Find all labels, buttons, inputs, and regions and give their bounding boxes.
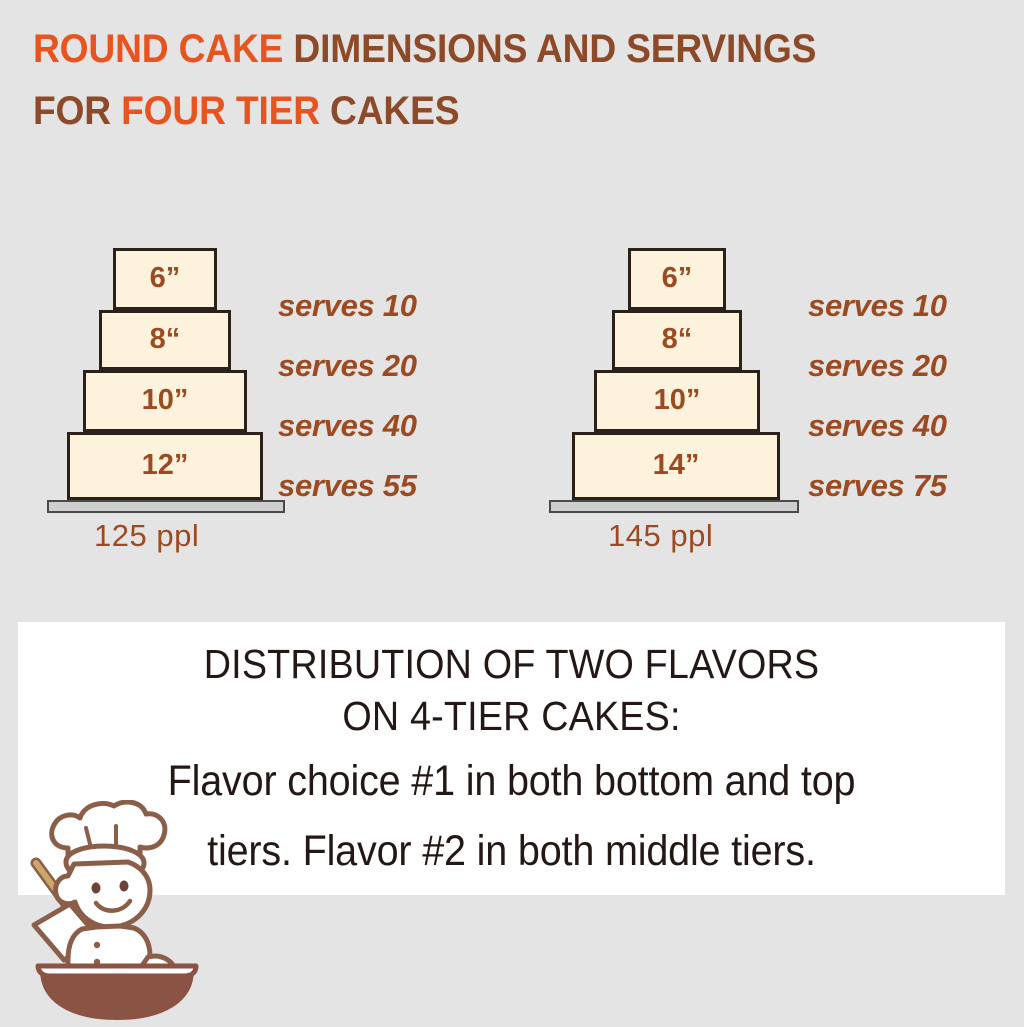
- cake-tier-size-label: 10”: [142, 386, 189, 415]
- cake-diagram-left: 6” 8“ 10” 12” 125 ppl: [40, 248, 290, 528]
- serves-row-1-right: serves 10: [808, 288, 947, 324]
- title-line-2: FOR FOUR TIER CAKES: [33, 80, 926, 142]
- serves-row-1-left: serves 10: [278, 288, 417, 324]
- cake-tier-1-left: 6”: [113, 248, 217, 310]
- serves-row-3-right: serves 40: [808, 408, 947, 444]
- serves-row-2-right: serves 20: [808, 348, 947, 384]
- title-accent-round-cake: ROUND CAKE: [33, 27, 283, 71]
- cake-tier-3-left: 10”: [83, 370, 247, 432]
- cake-tier-4-right: 14”: [572, 432, 780, 500]
- cake-tier-size-label: 10”: [654, 386, 701, 415]
- cake-total-servings-right: 145 ppl: [608, 518, 713, 554]
- cake-tier-size-label: 8“: [662, 325, 693, 354]
- cake-tier-size-label: 8“: [150, 325, 181, 354]
- cake-tier-size-label: 6”: [150, 264, 181, 293]
- chef-icon: [24, 800, 214, 1022]
- cake-tier-2-right: 8“: [612, 310, 742, 370]
- cake-plate-left: [47, 500, 285, 513]
- cake-tier-2-left: 8“: [99, 310, 231, 370]
- serves-row-3-left: serves 40: [278, 408, 417, 444]
- page-title: ROUND CAKE DIMENSIONS AND SERVINGS FOR F…: [33, 18, 993, 142]
- title-rest-1: DIMENSIONS AND SERVINGS: [283, 27, 816, 71]
- title-accent-four-tier: FOUR TIER: [121, 89, 320, 133]
- cake-tier-size-label: 12”: [142, 451, 189, 480]
- serves-row-2-left: serves 20: [278, 348, 417, 384]
- cake-tier-3-right: 10”: [594, 370, 760, 432]
- chef-mascot-logo: [24, 800, 214, 1022]
- flavor-heading-line-1: DISTRIBUTION OF TWO FLAVORS: [57, 638, 965, 690]
- cake-tier-size-label: 6”: [662, 264, 693, 293]
- title-for: FOR: [33, 89, 121, 133]
- flavor-heading-line-2: ON 4-TIER CAKES:: [57, 690, 965, 742]
- title-line-1: ROUND CAKE DIMENSIONS AND SERVINGS: [33, 18, 926, 80]
- cake-tier-1-right: 6”: [628, 248, 726, 310]
- cake-tier-size-label: 14”: [653, 451, 700, 480]
- cake-plate-right: [549, 500, 799, 513]
- cake-total-servings-left: 125 ppl: [94, 518, 199, 554]
- cake-diagram-right: 6” 8“ 10” 14” 145 ppl: [540, 248, 790, 528]
- cake-stack-right: 6” 8“ 10” 14” 145 ppl: [540, 248, 790, 528]
- title-cakes: CAKES: [320, 89, 459, 133]
- cake-stack-left: 6” 8“ 10” 12” 125 ppl: [40, 248, 290, 528]
- serves-row-4-left: serves 55: [278, 468, 417, 504]
- serves-row-4-right: serves 75: [808, 468, 947, 504]
- cake-tier-4-left: 12”: [67, 432, 263, 500]
- mixing-bowl-icon: [38, 966, 196, 1018]
